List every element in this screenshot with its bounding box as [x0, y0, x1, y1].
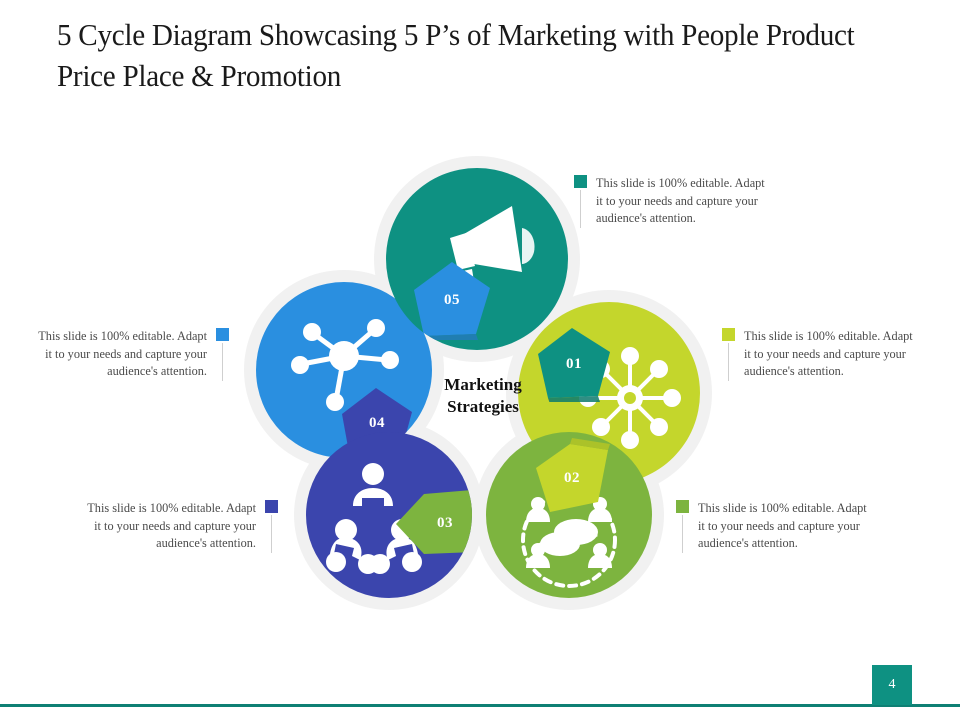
node-05-badge: 05: [412, 260, 492, 340]
callout-03-marker: [265, 500, 278, 553]
callout-03-text: This slide is 100% editable. Adapt it to…: [80, 500, 256, 553]
bullet-square-icon: [265, 500, 278, 513]
footer-divider: [0, 704, 960, 707]
callout-node-01: This slide is 100% editable. Adapt it to…: [722, 328, 920, 381]
callout-node-04: This slide is 100% editable. Adapt it to…: [31, 328, 229, 381]
callout-01-marker: [722, 328, 735, 381]
node-01-number: 01: [566, 356, 582, 373]
callout-04-text: This slide is 100% editable. Adapt it to…: [31, 328, 207, 381]
connector-line: [271, 515, 272, 553]
slide-canvas: 5 Cycle Diagram Showcasing 5 P’s of Mark…: [0, 0, 960, 720]
bullet-square-icon: [676, 500, 689, 513]
callout-node-05: This slide is 100% editable. Adapt it to…: [574, 175, 772, 228]
page-title: 5 Cycle Diagram Showcasing 5 P’s of Mark…: [57, 14, 865, 96]
connector-line: [222, 343, 223, 381]
connector-line: [580, 190, 581, 228]
callout-node-03: This slide is 100% editable. Adapt it to…: [80, 500, 278, 553]
bullet-square-icon: [722, 328, 735, 341]
connector-line: [682, 515, 683, 553]
node-05-number: 05: [444, 292, 460, 309]
bullet-square-icon: [574, 175, 587, 188]
center-label-line1: Marketing: [413, 374, 553, 396]
node-03-badge: 03: [394, 486, 472, 560]
node-02-badge: 02: [532, 438, 612, 518]
callout-05-text: This slide is 100% editable. Adapt it to…: [596, 175, 772, 228]
callout-05-marker: [574, 175, 587, 228]
node-03-circle[interactable]: 03: [306, 432, 472, 598]
node-03-number: 03: [437, 515, 453, 532]
connector-line: [728, 343, 729, 381]
callout-02-marker: [676, 500, 689, 553]
node-02-circle[interactable]: 02: [486, 432, 652, 598]
page-number-badge: 4: [872, 665, 912, 705]
node-05-circle[interactable]: 05: [386, 168, 568, 350]
pentagon-shape-03: [394, 486, 472, 560]
node-04-number: 04: [369, 415, 385, 432]
callout-node-02: This slide is 100% editable. Adapt it to…: [676, 500, 874, 553]
node-02-number: 02: [564, 470, 580, 487]
center-label: Marketing Strategies: [413, 374, 553, 418]
bullet-square-icon: [216, 328, 229, 341]
callout-01-text: This slide is 100% editable. Adapt it to…: [744, 328, 920, 381]
callout-02-text: This slide is 100% editable. Adapt it to…: [698, 500, 874, 553]
center-label-line2: Strategies: [413, 396, 553, 418]
callout-04-marker: [216, 328, 229, 381]
